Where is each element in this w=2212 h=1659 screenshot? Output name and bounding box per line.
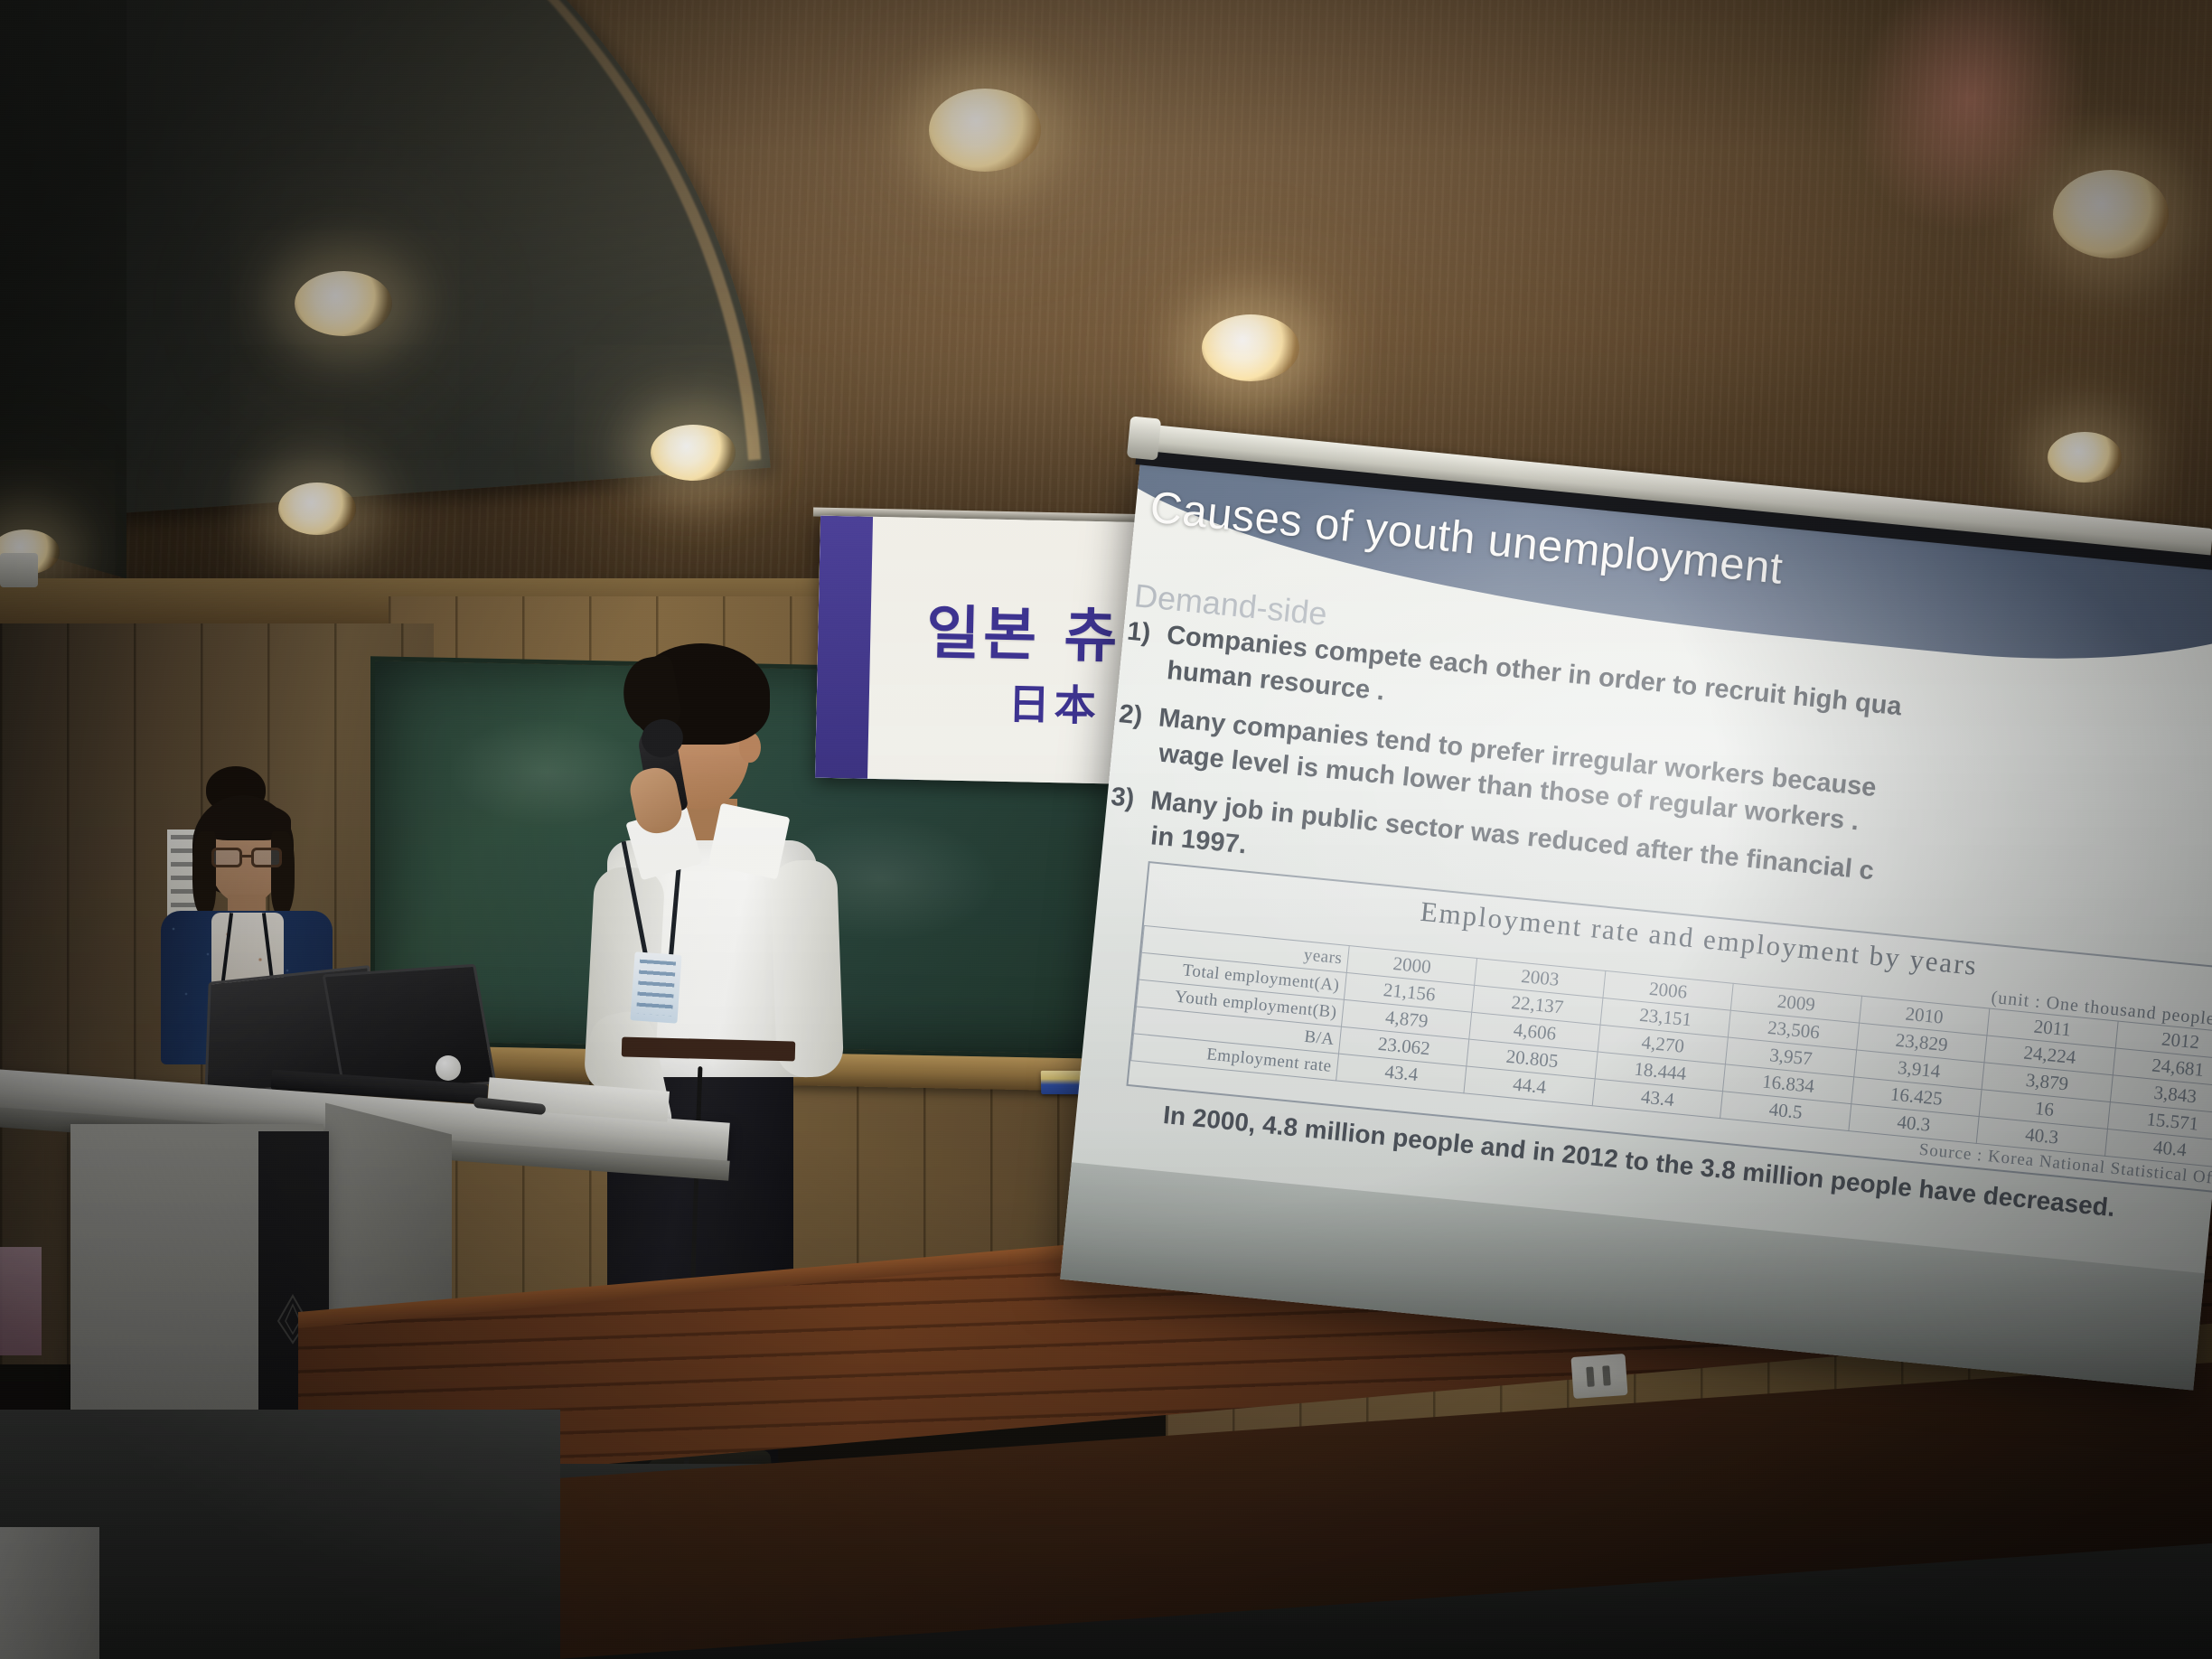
lecture-hall-photo: 일본 츄오 日本 中 Causes of youth unemployment … bbox=[0, 0, 2212, 1659]
ceiling-downlight bbox=[295, 271, 392, 336]
chalk-smudge bbox=[447, 717, 646, 829]
presentation-slide: Causes of youth unemployment Demand-side… bbox=[1072, 461, 2212, 1273]
eyeglasses-right-lens bbox=[251, 848, 282, 867]
wall-sensor-box bbox=[0, 553, 38, 587]
ceiling-downlight bbox=[1202, 314, 1299, 381]
hair-side-right bbox=[271, 831, 295, 914]
ceiling-downlight bbox=[2053, 170, 2169, 258]
wall-power-outlet bbox=[1570, 1354, 1627, 1399]
name-badge bbox=[630, 951, 681, 1023]
white-box-object bbox=[0, 1527, 99, 1659]
outlet-slot bbox=[1602, 1365, 1611, 1386]
badge-text-lines bbox=[636, 960, 676, 1017]
hair-side-left bbox=[192, 831, 216, 914]
white-ball-object bbox=[436, 1055, 461, 1081]
bullet-number: 1) bbox=[1122, 618, 1168, 649]
ceiling-downlight bbox=[651, 425, 736, 481]
ceiling-downlight bbox=[2048, 432, 2122, 483]
screen-roller-cap bbox=[1127, 416, 1161, 460]
bullet-number: 2) bbox=[1114, 701, 1160, 732]
projection-screen: Causes of youth unemployment Demand-side… bbox=[1060, 461, 2212, 1391]
eyeglasses-left-lens bbox=[211, 848, 242, 867]
pink-object bbox=[0, 1247, 42, 1355]
bullet-number: 3) bbox=[1106, 783, 1152, 814]
banner-purple-edge bbox=[815, 516, 873, 779]
ceiling-downlight bbox=[929, 89, 1041, 172]
outlet-slot bbox=[1586, 1366, 1595, 1387]
eyeglasses-bridge bbox=[242, 855, 253, 858]
ceiling-downlight bbox=[278, 483, 356, 535]
